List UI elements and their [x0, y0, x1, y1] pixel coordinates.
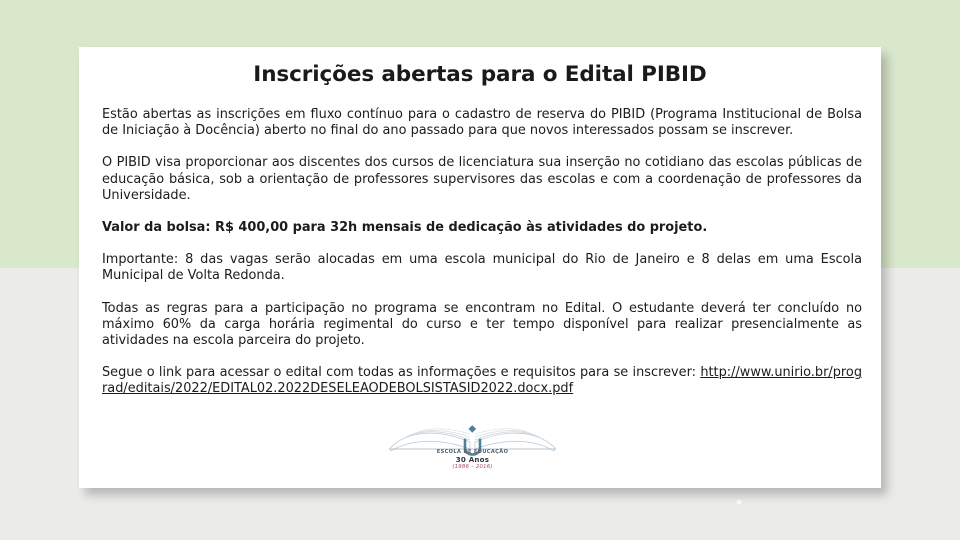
- paragraph-objetivo: O PIBID visa proporcionar aos discentes …: [102, 155, 862, 204]
- announcement-card: Inscrições abertas para o Edital PIBID E…: [79, 47, 881, 488]
- announcement-body: Estão abertas as inscrições em fluxo con…: [102, 107, 862, 398]
- paragraph-regras: Todas as regras para a participação no p…: [102, 301, 862, 350]
- logo-line-years: (1986 – 2016): [385, 464, 560, 470]
- paragraph-importante-vagas: Importante: 8 das vagas serão alocadas e…: [102, 252, 862, 284]
- slide-page: Inscrições abertas para o Edital PIBID E…: [0, 0, 960, 540]
- paragraph-link: Segue o link para acessar o edital com t…: [102, 365, 862, 397]
- paragraph-valor-bolsa: Valor da bolsa: R$ 400,00 para 32h mensa…: [102, 220, 862, 236]
- logo-line-anos: 30 Anos: [385, 456, 560, 464]
- link-lead-text: Segue o link para acessar o edital com t…: [102, 365, 696, 380]
- logo-text-block: ESCOLA DE EDUCAÇÃO 30 Anos (1986 – 2016): [385, 450, 560, 470]
- paragraph-intro: Estão abertas as inscrições em fluxo con…: [102, 107, 862, 139]
- escola-de-educacao-logo: ESCOLA DE EDUCAÇÃO 30 Anos (1986 – 2016): [385, 418, 560, 480]
- page-title: Inscrições abertas para o Edital PIBID: [79, 62, 881, 87]
